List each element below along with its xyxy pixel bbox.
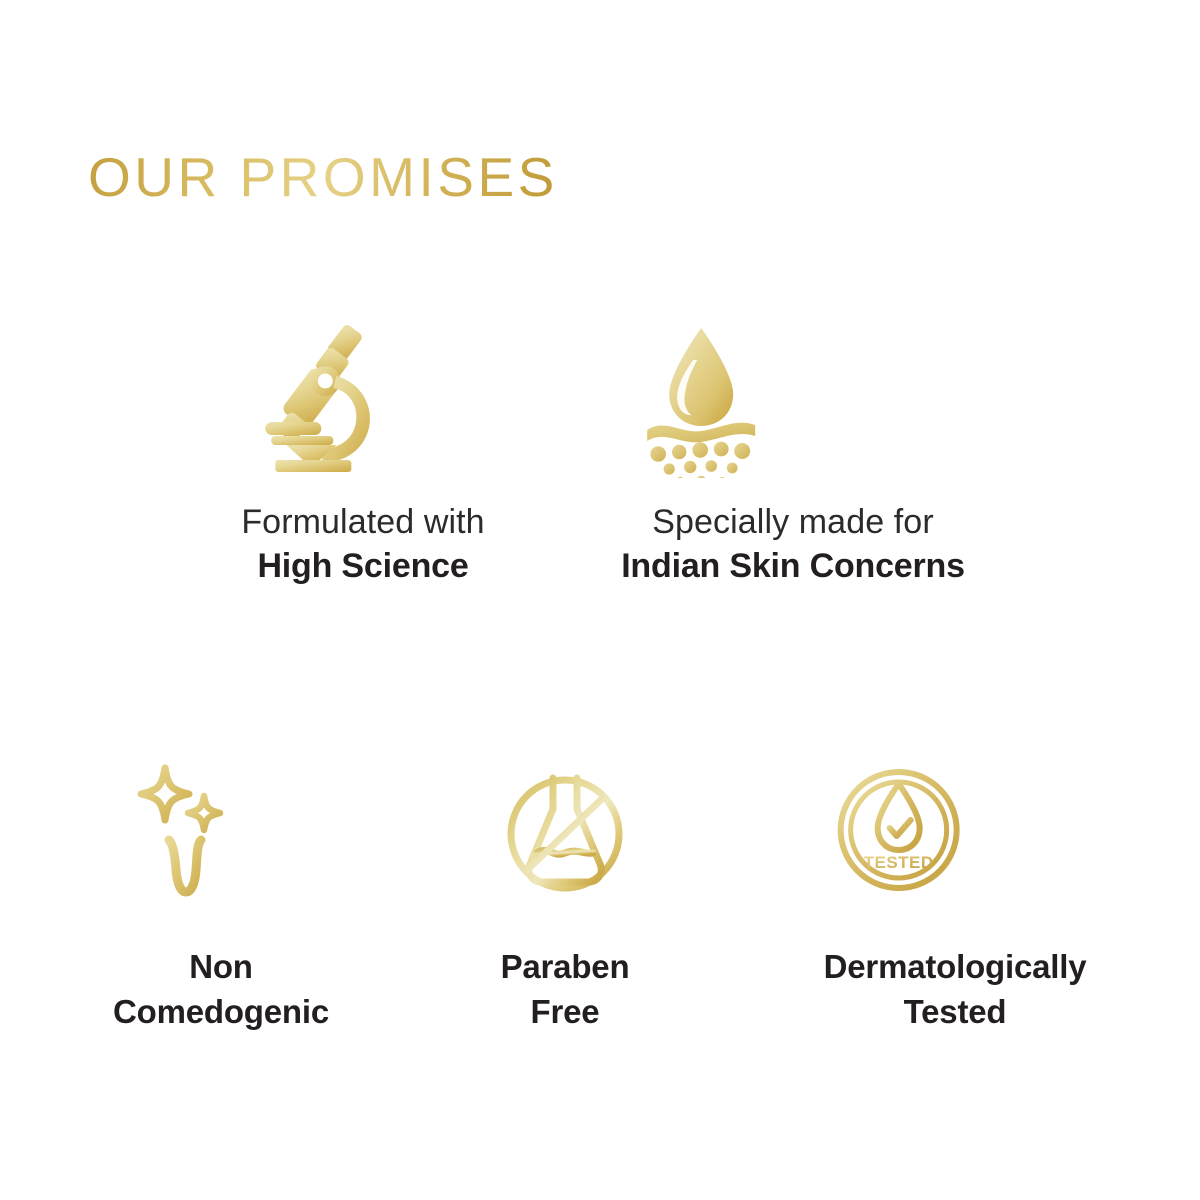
no-flask-icon bbox=[490, 752, 640, 902]
promise-item-dermatologically-tested: TESTED Dermatologically Tested bbox=[824, 752, 1087, 1034]
caption-line-2: High Science bbox=[241, 544, 484, 588]
promise-item-indian-skin-concerns: Specially made for Indian Skin Concerns bbox=[621, 318, 965, 588]
caption-line-2: Tested bbox=[824, 989, 1087, 1034]
promise-caption: Paraben Free bbox=[490, 944, 640, 1034]
promise-item-paraben-free: Paraben Free bbox=[490, 752, 640, 1034]
caption-line-1: Formulated with bbox=[241, 500, 484, 544]
badge-text: TESTED bbox=[864, 853, 934, 872]
promise-caption: Specially made for Indian Skin Concerns bbox=[621, 500, 965, 588]
promise-caption: Non Comedogenic bbox=[113, 944, 329, 1034]
caption-line-1: Dermatologically bbox=[824, 944, 1087, 989]
promise-caption: Dermatologically Tested bbox=[824, 944, 1087, 1034]
caption-line-1: Non bbox=[113, 944, 329, 989]
promise-item-high-science: Formulated with High Science bbox=[241, 318, 484, 588]
our-promises-panel: OUR PROMISES bbox=[0, 0, 1200, 1200]
caption-line-2: Indian Skin Concerns bbox=[621, 544, 965, 588]
promise-item-non-comedogenic: Non Comedogenic bbox=[113, 752, 329, 1034]
promise-caption: Formulated with High Science bbox=[241, 500, 484, 588]
microscope-icon bbox=[241, 318, 484, 478]
caption-line-1: Paraben bbox=[490, 944, 640, 989]
caption-line-1: Specially made for bbox=[621, 500, 965, 544]
caption-line-2: Free bbox=[490, 989, 640, 1034]
page-title: OUR PROMISES bbox=[88, 146, 558, 208]
pore-sparkle-icon bbox=[113, 752, 329, 902]
tested-badge-icon: TESTED bbox=[824, 752, 1087, 902]
caption-line-2: Comedogenic bbox=[113, 989, 329, 1034]
droplet-skin-absorption-icon bbox=[621, 318, 965, 478]
